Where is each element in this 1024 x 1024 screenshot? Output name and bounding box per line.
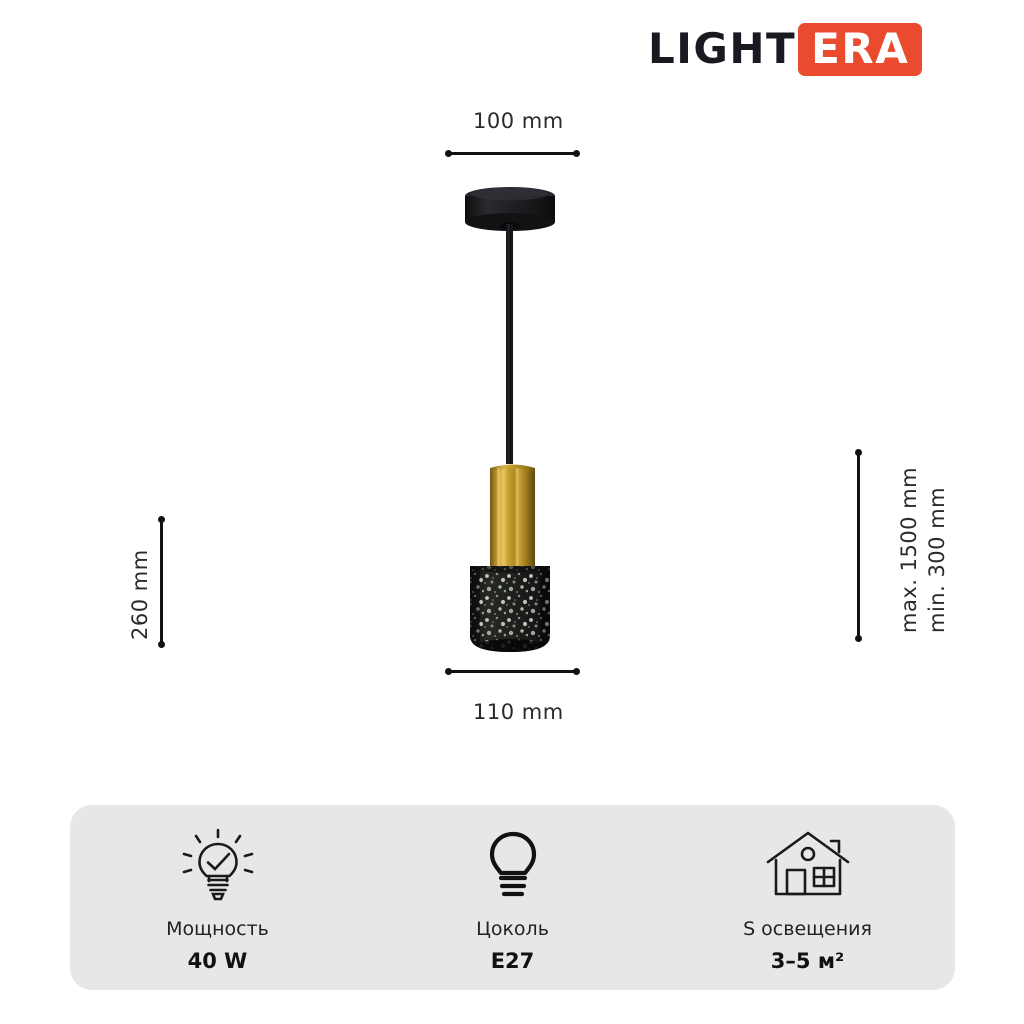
dimension-line-bottom-width — [447, 670, 578, 673]
logo-text-light: LIGHT — [648, 28, 796, 70]
spec-title-power: Мощность — [166, 918, 269, 940]
specifications-panel: Мощность 40 W Цоколь E27 — [70, 805, 955, 990]
dimension-line-top-width — [447, 152, 578, 155]
dimension-label-drop-max: max. 1500 mm — [897, 467, 921, 633]
dimension-label-shade-height: 260 mm — [128, 549, 152, 640]
dimension-line-shade-height — [160, 518, 163, 646]
terrazzo-shade — [466, 562, 556, 661]
logo-text-era: ERA — [811, 28, 909, 70]
dimension-label-bottom-width: 110 mm — [473, 700, 564, 724]
spec-title-area: S освещения — [743, 918, 872, 940]
spec-item-socket: Цоколь E27 — [365, 822, 660, 973]
brand-logo: LIGHT ERA — [648, 24, 922, 74]
suspension-cord — [506, 224, 513, 464]
logo-era-badge: ERA — [798, 23, 922, 76]
brass-tube — [490, 465, 535, 567]
spec-value-socket: E27 — [491, 949, 535, 973]
spec-item-power: Мощность 40 W — [70, 822, 365, 973]
spec-title-socket: Цоколь — [476, 918, 549, 940]
dimension-label-drop-min: min. 300 mm — [925, 487, 949, 633]
bulb-check-icon — [182, 828, 254, 904]
dimension-line-drop-range — [857, 451, 860, 640]
ceiling-canopy-icon — [465, 187, 555, 231]
bulb-socket-icon — [482, 828, 544, 904]
house-icon — [765, 828, 851, 904]
dimension-label-top-width: 100 mm — [473, 109, 564, 133]
spec-item-area: S освещения 3–5 м² — [660, 822, 955, 973]
spec-value-power: 40 W — [188, 949, 248, 973]
spec-value-area: 3–5 м² — [771, 949, 844, 973]
